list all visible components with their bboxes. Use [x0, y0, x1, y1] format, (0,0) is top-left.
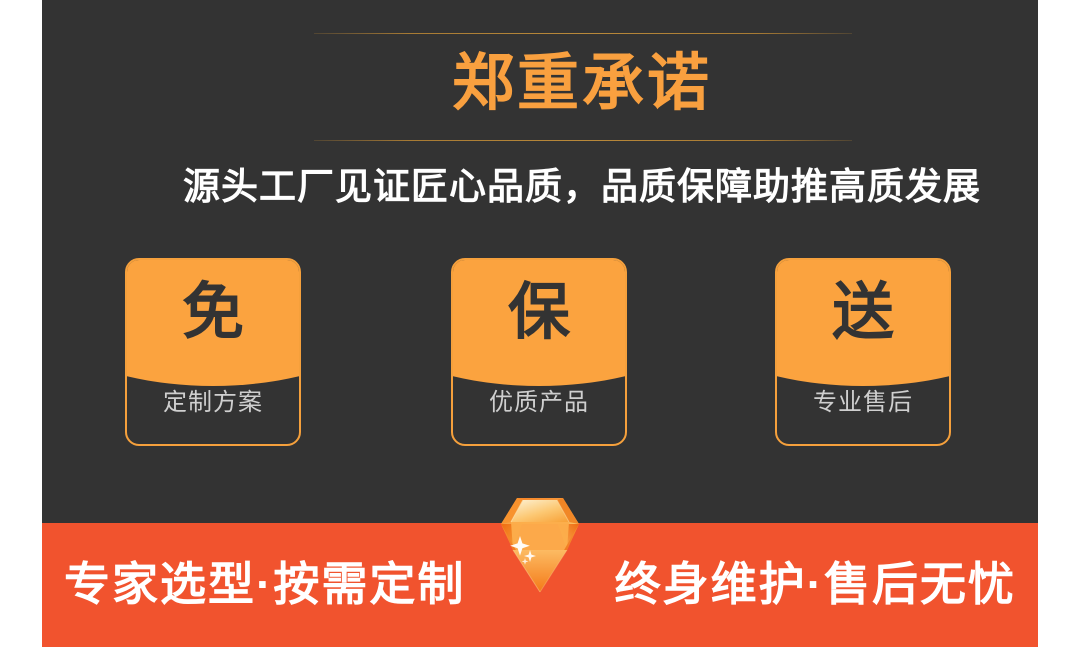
slogan-right: 终身维护·售后无忧 — [615, 553, 1016, 615]
page-title: 郑重承诺 — [84, 46, 1080, 122]
card-glyph: 免 — [127, 278, 299, 348]
card-label: 专业售后 — [777, 388, 949, 418]
card-glyph: 保 — [453, 278, 625, 348]
card-label: 优质产品 — [453, 388, 625, 418]
promise-card-delivery[interactable]: 送 专业售后 — [775, 258, 951, 446]
slogan-left: 专家选型·按需定制 — [64, 553, 465, 615]
title-divider-top — [314, 33, 852, 34]
diamond-gem-icon — [489, 492, 591, 596]
card-glyph: 送 — [777, 278, 949, 348]
promise-banner: 郑重承诺 源头工厂见证匠心品质，品质保障助推高质发展 免 定制方案 保 优质产品… — [0, 0, 1080, 647]
promise-card-list: 免 定制方案 保 优质产品 送 专业售后 — [0, 258, 1080, 448]
title-divider-bottom — [314, 140, 852, 141]
promise-card-free[interactable]: 免 定制方案 — [125, 258, 301, 446]
subtitle: 源头工厂见证匠心品质，品质保障助推高质发展 — [84, 162, 1080, 212]
promise-card-guarantee[interactable]: 保 优质产品 — [451, 258, 627, 446]
card-label: 定制方案 — [127, 388, 299, 418]
